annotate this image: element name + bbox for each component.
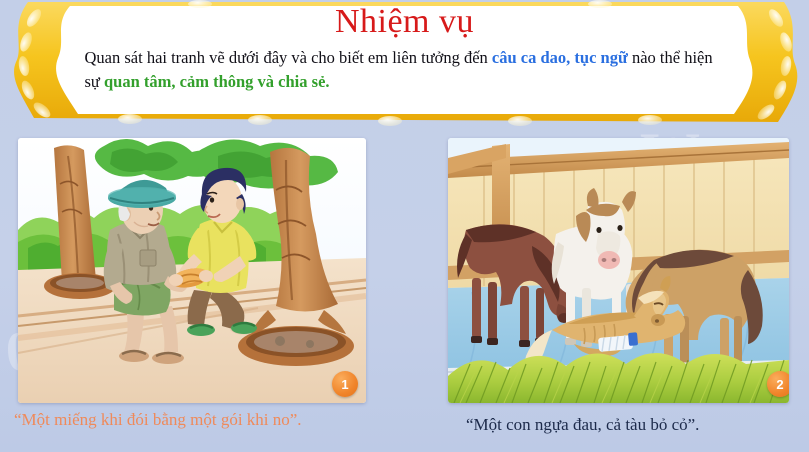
scene-boy-and-elder: [18, 138, 366, 403]
scene-horses-stable: [448, 138, 789, 403]
caption-panel-1: “Một miếng khi đói bằng một gói khi no”.: [14, 410, 302, 430]
panel-badge-1: 1: [332, 371, 358, 397]
slide-canvas: 0 W: [0, 0, 809, 452]
caption-panel-2: “Một con ngựa đau, cả tàu bỏ cỏ”.: [466, 415, 699, 435]
panel-badge-2: 2: [767, 371, 789, 397]
task-banner: Nhiệm vụ Quan sát hai tranh vẽ dưới đây …: [0, 0, 809, 126]
banner-frame-shape: [0, 0, 809, 126]
illustration-panel-1[interactable]: 1: [18, 138, 366, 403]
illustration-panel-2[interactable]: 2: [448, 138, 789, 403]
